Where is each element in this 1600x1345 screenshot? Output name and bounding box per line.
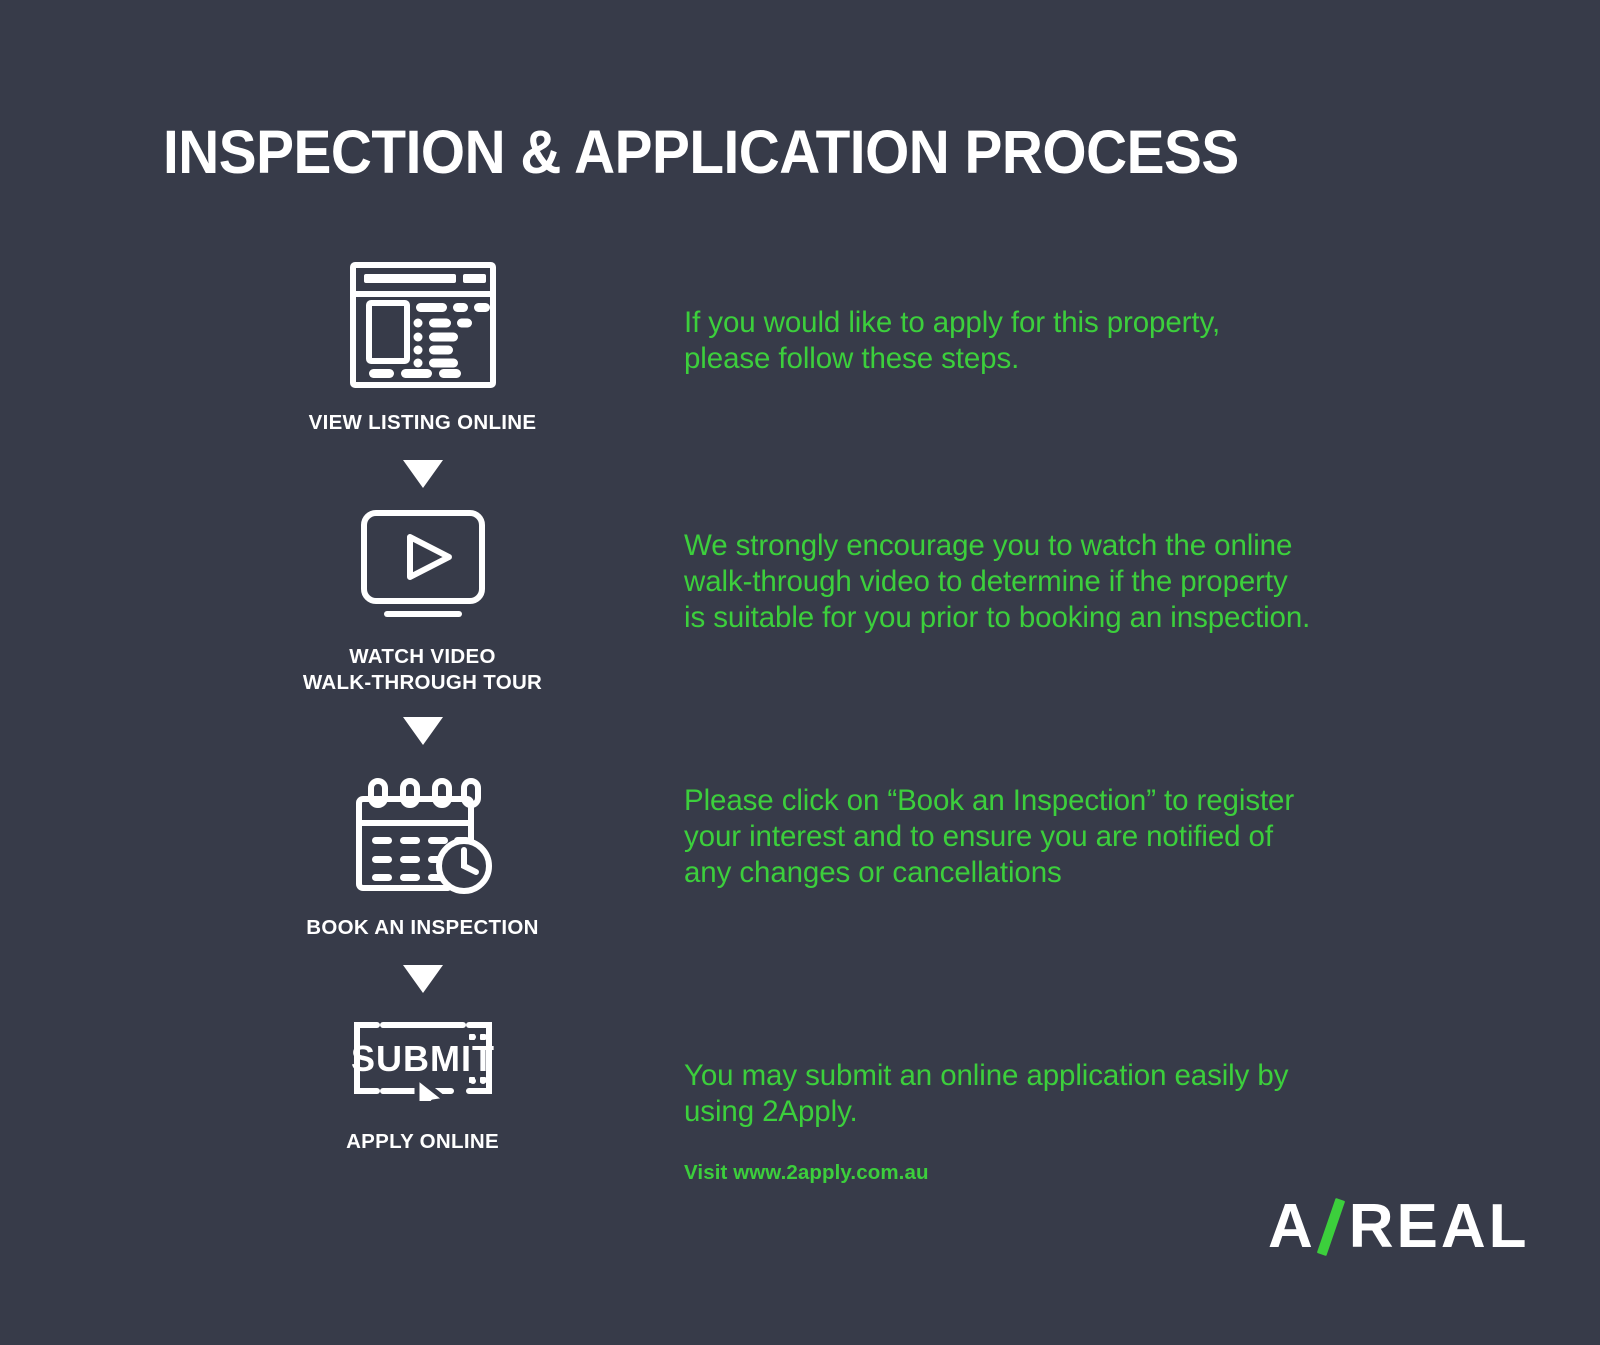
flow-arrow-1 [403,460,443,488]
calendar-clock-icon [348,767,498,897]
step-label-apply-online: APPLY ONLINE [346,1129,499,1155]
process-flow: VIEW LISTING ONLINE WATCH VIDEO WALK-THR… [270,262,575,1155]
listing-window-icon [350,262,496,388]
step-book-inspection: BOOK AN INSPECTION [270,767,575,1015]
visit-link[interactable]: Visit www.2apply.com.au [684,1161,929,1185]
step-watch-video: WATCH VIDEO WALK-THROUGH TOUR [270,510,575,766]
page-title: INSPECTION & APPLICATION PROCESS [163,122,1239,183]
step-view-listing-online: VIEW LISTING ONLINE [270,262,575,510]
flow-arrow-3 [403,965,443,993]
copy-watch-video: We strongly encourage you to watch the o… [684,528,1444,636]
video-play-icon [350,510,496,622]
copy-apply-online: You may submit an online application eas… [684,1058,1424,1130]
step-label-view-listing-online: VIEW LISTING ONLINE [309,410,537,436]
logo-word-real: REAL [1349,1196,1530,1258]
areal-logo[interactable]: A REAL [1268,1196,1530,1258]
step-label-watch-video: WATCH VIDEO WALK-THROUGH TOUR [303,644,542,696]
submit-icon-label: SUBMIT [351,1038,495,1079]
logo-letter-a: A [1268,1196,1313,1258]
submit-button-cursor-icon: SUBMIT [347,1015,499,1101]
step-apply-online: SUBMIT APPLY ONLINE [270,1015,575,1155]
logo-slash-icon [1314,1196,1348,1258]
infographic-page: INSPECTION & APPLICATION PROCESS [0,0,1600,1345]
copy-book-inspection: Please click on “Book an Inspection” to … [684,783,1444,891]
copy-view-listing-online: If you would like to apply for this prop… [684,305,1444,377]
step-label-book-inspection: BOOK AN INSPECTION [306,915,538,941]
flow-arrow-2 [403,717,443,745]
